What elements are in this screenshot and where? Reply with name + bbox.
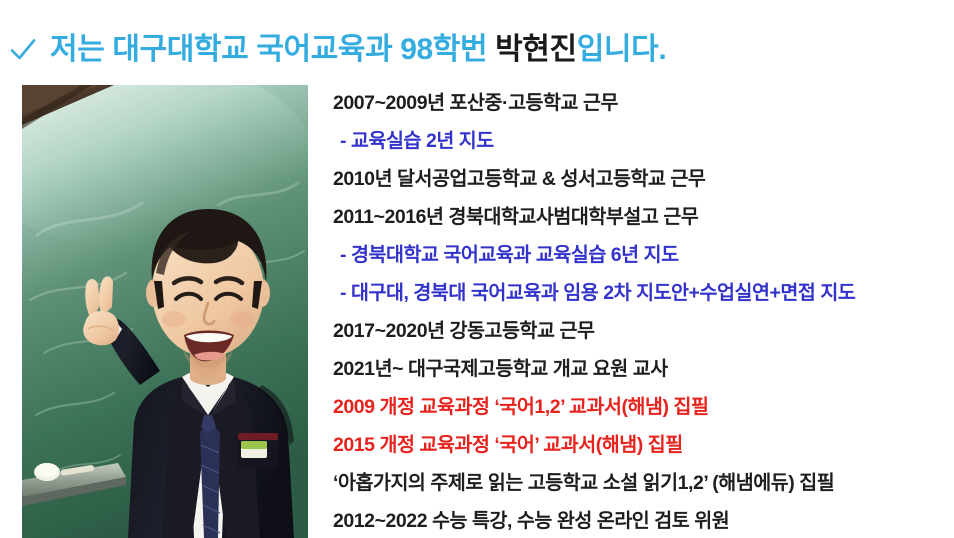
career-history-list: 2007~2009년 포산중·고등학교 근무 - 교육실습 2년 지도 2010… bbox=[333, 84, 945, 538]
check-icon bbox=[8, 35, 38, 65]
list-item: 2011~2016년 경북대학교사범대학부설고 근무 bbox=[333, 198, 945, 236]
profile-photo-illustration bbox=[22, 85, 308, 538]
list-item: 2010년 달서공업고등학교 & 성서고등학교 근무 bbox=[333, 160, 945, 198]
presentation-slide: 저는 대구대학교 국어교육과 98학번 박현진입니다. bbox=[0, 0, 954, 538]
list-item: 2012~2022 수능 특강, 수능 완성 온라인 검토 위원 bbox=[333, 502, 945, 538]
list-item: 2007~2009년 포산중·고등학교 근무 bbox=[333, 84, 945, 122]
list-item: - 대구대, 경북대 국어교육과 임용 2차 지도안+수업실연+면접 지도 bbox=[333, 274, 945, 312]
page-title: 저는 대구대학교 국어교육과 98학번 박현진입니다. bbox=[50, 35, 666, 65]
list-item: 2009 개정 교육과정 ‘국어1,2’ 교과서(해냄) 집필 bbox=[333, 388, 945, 426]
list-item: - 경북대학교 국어교육과 교육실습 6년 지도 bbox=[333, 236, 945, 274]
slide-title-row: 저는 대구대학교 국어교육과 98학번 박현진입니다. bbox=[8, 24, 938, 76]
title-segment-suffix: 입니다. bbox=[577, 33, 667, 66]
title-segment-name: 박현진 bbox=[495, 33, 577, 66]
list-item: 2015 개정 교육과정 ‘국어’ 교과서(해냄) 집필 bbox=[333, 426, 945, 464]
list-item: ‘아홉가지의 주제로 읽는 고등학교 소설 읽기1,2’ (해냄에듀) 집필 bbox=[333, 464, 945, 502]
title-segment-intro: 저는 대구대학교 국어교육과 98학번 bbox=[50, 33, 495, 66]
list-item: - 교육실습 2년 지도 bbox=[333, 122, 945, 160]
list-item: 2021년~ 대구국제고등학교 개교 요원 교사 bbox=[333, 350, 945, 388]
profile-photo bbox=[22, 85, 308, 538]
list-item: 2017~2020년 강동고등학교 근무 bbox=[333, 312, 945, 350]
